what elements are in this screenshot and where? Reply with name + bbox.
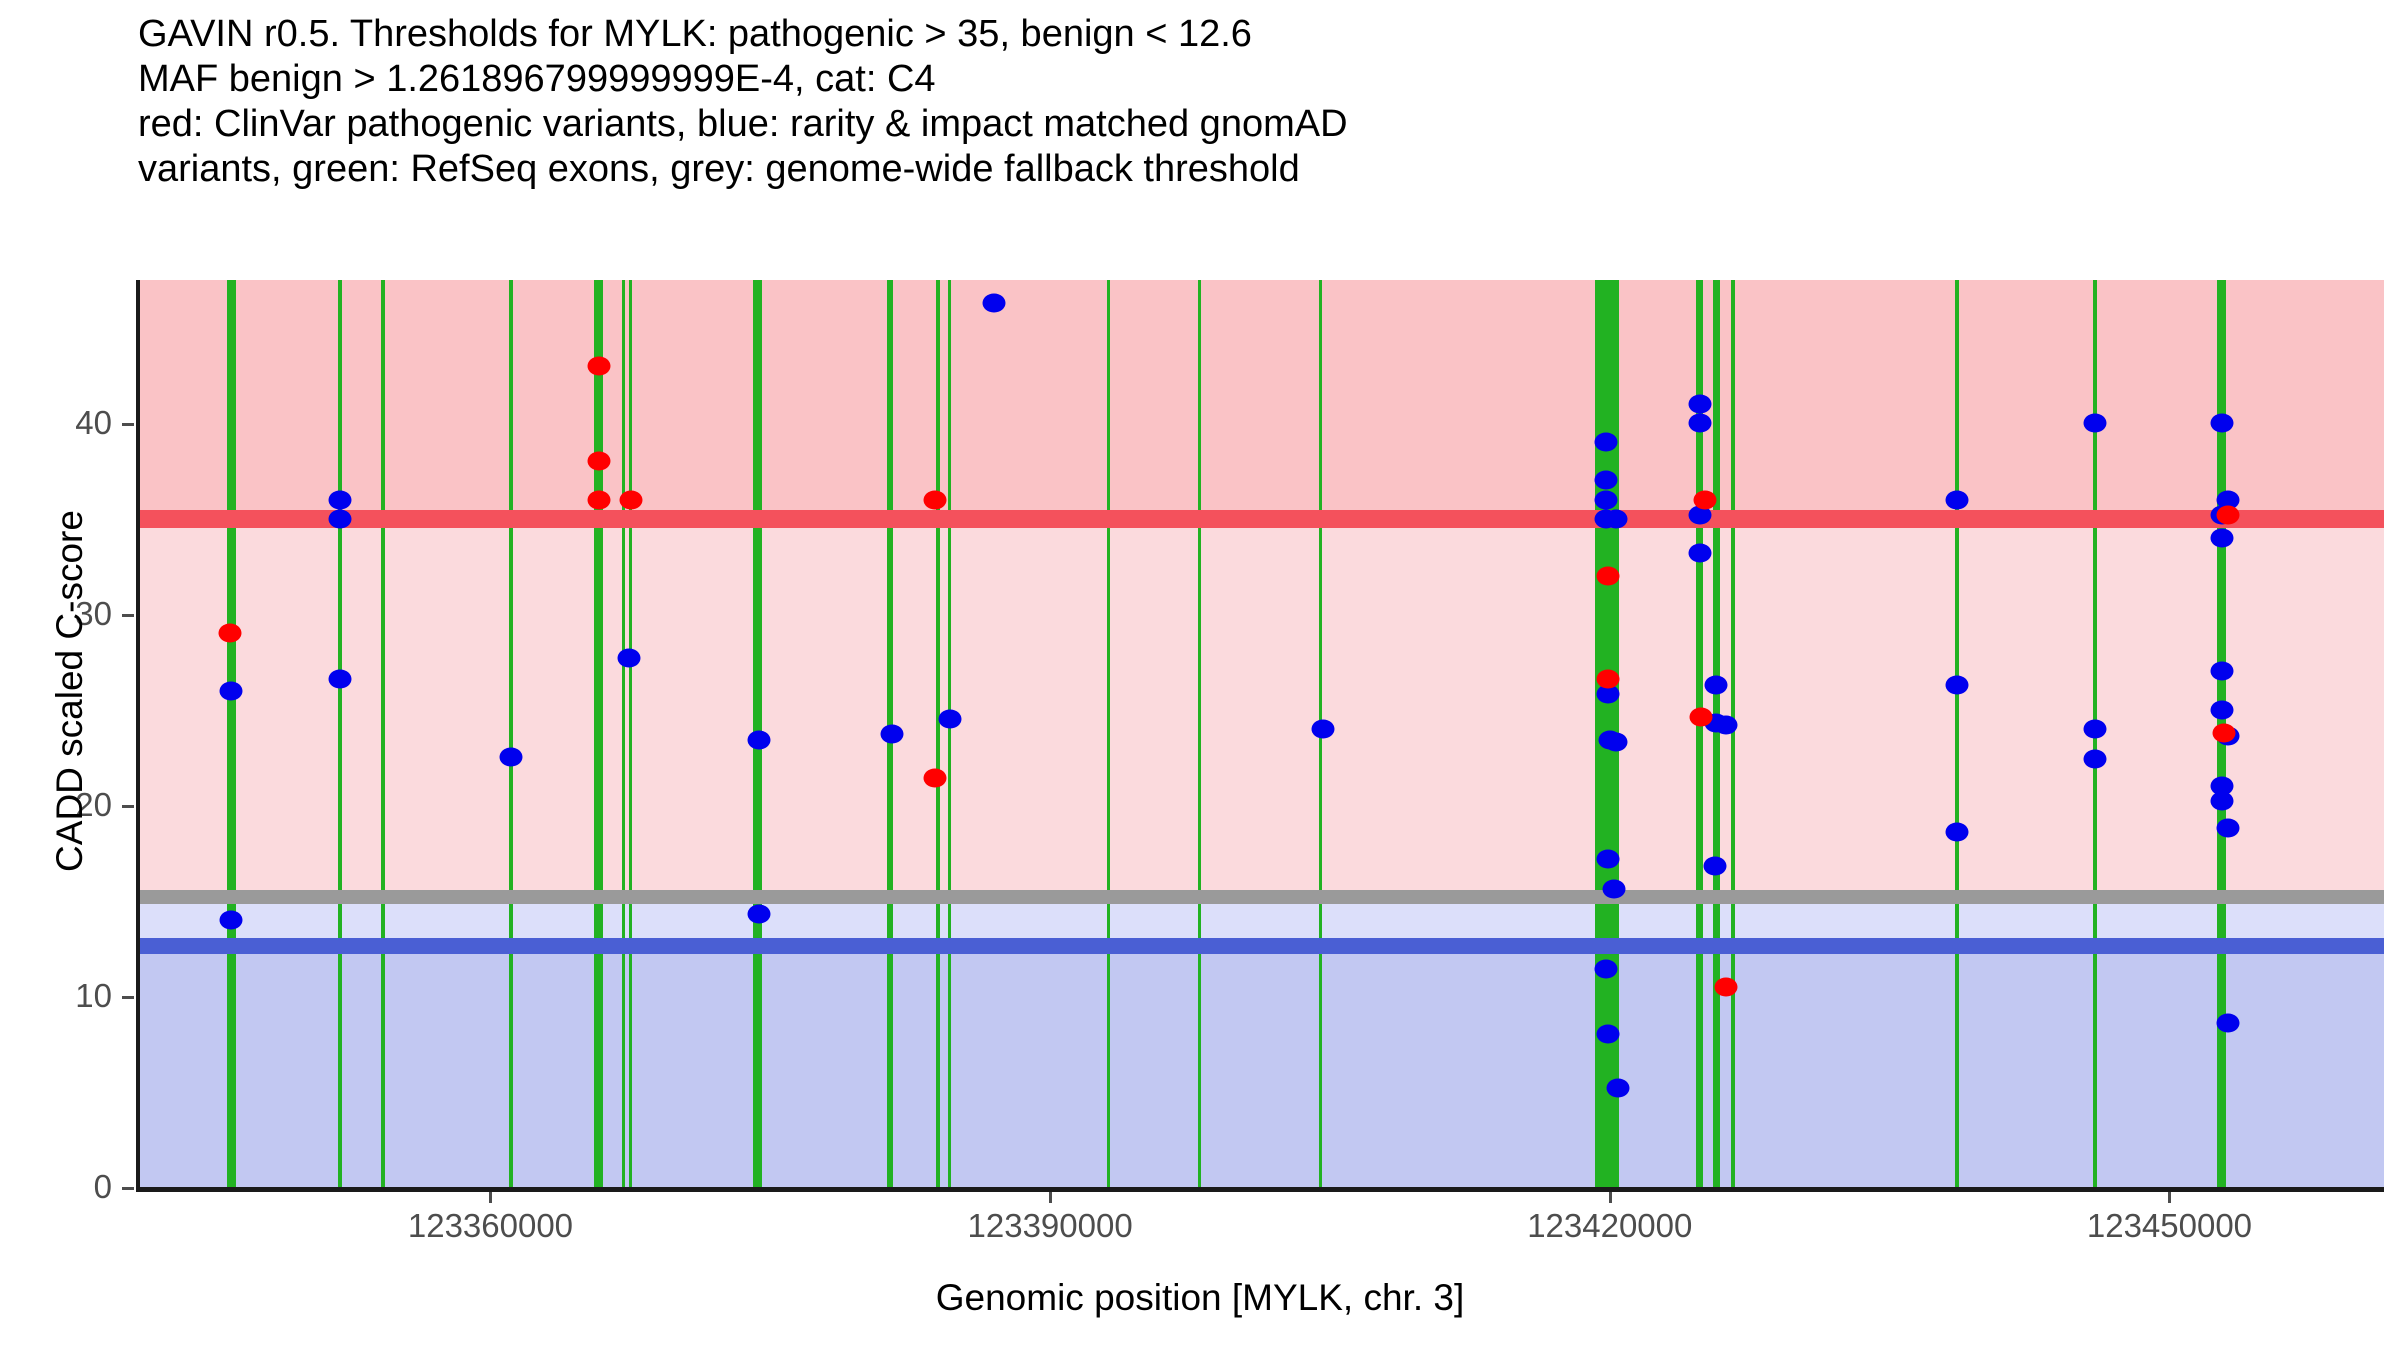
x-axis-tick <box>1609 1192 1612 1203</box>
gnomad-point <box>2084 750 2107 769</box>
gnomad-point <box>617 649 640 668</box>
gnomad-point <box>1597 849 1620 868</box>
pathogenic-point <box>1694 490 1717 509</box>
gnomad-point <box>2084 414 2107 433</box>
exon-line <box>338 280 342 1187</box>
gnomad-point <box>2210 792 2233 811</box>
gnomad-point <box>1595 433 1618 452</box>
gnomad-point <box>1688 395 1711 414</box>
gnomad-point <box>1714 715 1737 734</box>
pathogenic-upper-band <box>140 280 2384 519</box>
pathogenic-point <box>923 490 946 509</box>
exon-line <box>622 280 625 1187</box>
exon-line <box>1107 280 1110 1187</box>
exon-line <box>948 280 951 1187</box>
pathogenic-point <box>1597 566 1620 585</box>
gnomad-point <box>880 725 903 744</box>
x-axis-tick-label: 123390000 <box>968 1207 1133 1245</box>
pathogenic-point <box>2212 723 2235 742</box>
pathogenic-point <box>1714 977 1737 996</box>
gnomad-point <box>1946 490 1969 509</box>
plot-title-block: GAVIN r0.5. Thresholds for MYLK: pathoge… <box>138 12 2338 192</box>
y-axis-tick <box>122 805 134 808</box>
exon-line <box>1955 280 1959 1187</box>
gnomad-point <box>1597 1025 1620 1044</box>
gnomad-point <box>2084 719 2107 738</box>
gnomad-point <box>220 910 243 929</box>
x-axis-tick <box>2168 1192 2171 1203</box>
pathogenic-point <box>1597 670 1620 689</box>
gnomad-point <box>1688 414 1711 433</box>
gnomad-point <box>1946 822 1969 841</box>
exon-line <box>936 280 940 1187</box>
gnomad-point <box>748 904 771 923</box>
exon-line <box>1731 280 1735 1187</box>
exon-line <box>1198 280 1201 1187</box>
pathogenic-threshold-line <box>140 510 2384 528</box>
gnomad-point <box>2210 414 2233 433</box>
gnomad-point <box>1946 675 1969 694</box>
exon-line <box>1713 280 1720 1187</box>
gnomad-point <box>748 731 771 750</box>
y-axis-tick-label: 0 <box>94 1168 112 1206</box>
x-axis-line <box>136 1187 2384 1192</box>
title-line-1: GAVIN r0.5. Thresholds for MYLK: pathoge… <box>138 12 2338 57</box>
gnomad-point <box>2216 819 2239 838</box>
pathogenic-lower-band <box>140 519 2384 897</box>
y-axis-tick <box>122 996 134 999</box>
exon-line <box>227 280 236 1187</box>
gnomad-point <box>938 710 961 729</box>
exon-line <box>594 280 603 1187</box>
benign-band <box>140 946 2384 1187</box>
gnomad-point <box>328 490 351 509</box>
gnomad-point <box>1703 857 1726 876</box>
pathogenic-point <box>587 356 610 375</box>
gnomad-point <box>1604 733 1627 752</box>
gnomad-point <box>220 681 243 700</box>
pathogenic-point <box>587 490 610 509</box>
gnomad-point <box>2216 1013 2239 1032</box>
gnomad-point <box>1688 544 1711 563</box>
gnomad-point <box>983 293 1006 312</box>
title-line-3: red: ClinVar pathogenic variants, blue: … <box>138 102 2338 147</box>
pathogenic-point <box>587 452 610 471</box>
gnomad-point <box>1602 880 1625 899</box>
plot-area <box>136 280 2384 1187</box>
title-line-4: variants, green: RefSeq exons, grey: gen… <box>138 147 2338 192</box>
gnomad-point <box>2210 700 2233 719</box>
gnomad-point <box>1311 719 1334 738</box>
pathogenic-point <box>2216 505 2239 524</box>
exon-line <box>509 280 513 1187</box>
y-axis-tick <box>122 1187 134 1190</box>
x-axis-tick-label: 123360000 <box>408 1207 573 1245</box>
x-axis-tick-label: 123450000 <box>2087 1207 2252 1245</box>
x-axis-tick-label: 123420000 <box>1527 1207 1692 1245</box>
pathogenic-point <box>1690 708 1713 727</box>
gnomad-point <box>1595 490 1618 509</box>
x-axis-tick <box>1049 1192 1052 1203</box>
gnomad-point <box>2210 662 2233 681</box>
x-axis-tick <box>489 1192 492 1203</box>
gnomad-point <box>328 509 351 528</box>
x-axis-title: Genomic position [MYLK, chr. 3] <box>0 1277 2400 1319</box>
y-axis-tick <box>122 423 134 426</box>
y-axis-tick <box>122 614 134 617</box>
benign-threshold-line <box>140 938 2384 954</box>
title-line-2: MAF benign > 1.261896799999999E-4, cat: … <box>138 57 2338 102</box>
pathogenic-point <box>218 624 241 643</box>
gnomad-point <box>1606 1078 1629 1097</box>
gnomad-point <box>1595 471 1618 490</box>
y-axis-title: CADD scaled C-score <box>49 291 91 1091</box>
gnomad-point <box>1595 960 1618 979</box>
gnomad-point <box>2210 528 2233 547</box>
plot-panel <box>140 280 2384 1187</box>
pathogenic-point <box>619 490 642 509</box>
gnomad-point <box>500 748 523 767</box>
gnomad-point <box>1604 509 1627 528</box>
exon-line <box>381 280 385 1187</box>
fallback-threshold-line <box>140 890 2384 904</box>
gnomad-point <box>1705 675 1728 694</box>
exon-line <box>629 280 632 1187</box>
pathogenic-point <box>923 769 946 788</box>
gnomad-point <box>328 670 351 689</box>
